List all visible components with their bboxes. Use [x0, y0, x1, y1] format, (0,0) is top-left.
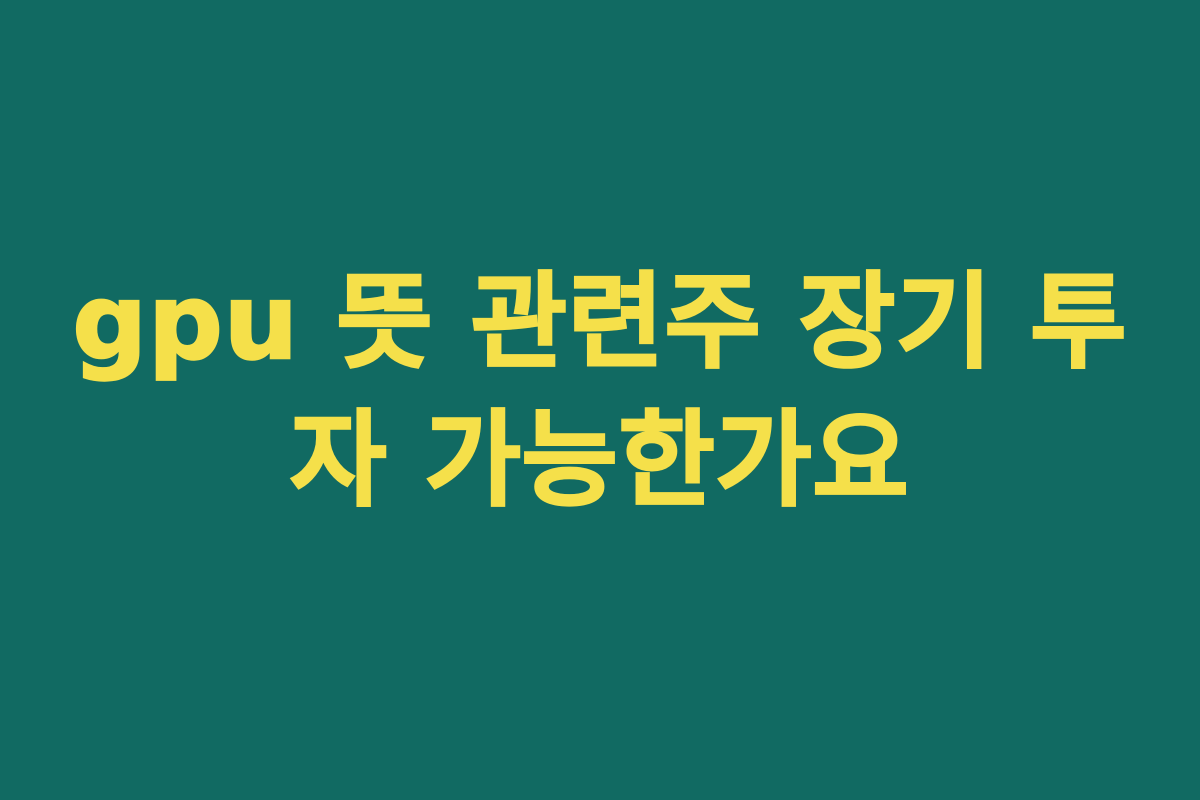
headline-block: gpu 뜻 관련주 장기 투 자 가능한가요	[70, 253, 1130, 529]
headline-line-1: gpu 뜻 관련주 장기 투	[73, 253, 1128, 391]
headline-line-2: 자 가능한가요	[290, 391, 909, 529]
thumbnail-card: gpu 뜻 관련주 장기 투 자 가능한가요	[0, 0, 1200, 800]
